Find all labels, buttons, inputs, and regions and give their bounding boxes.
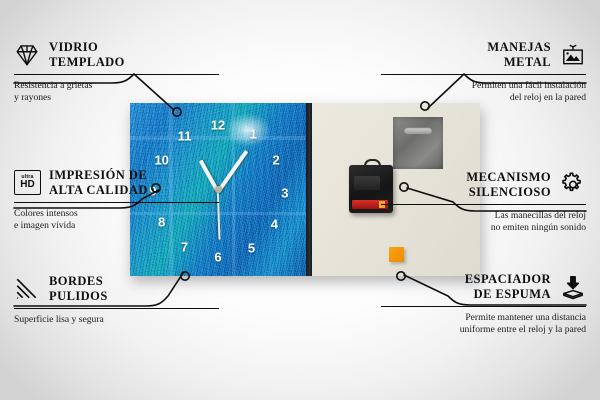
callout-divider (14, 202, 219, 204)
callout-title-line2: METAL (504, 55, 551, 69)
clock-numeral-6: 6 (214, 250, 221, 263)
callout-sub-line1: Permite mantener una distancia (465, 312, 586, 323)
ultra-hd-icon: ultra HD (14, 170, 40, 196)
callout-title-line2: DE ESPUMA (474, 287, 551, 301)
callout-sub-line2: e imagen vívida (14, 220, 75, 231)
callout-divider (14, 308, 219, 310)
callout-divider (381, 74, 586, 76)
foam-spacer (389, 247, 404, 262)
callout-sub-line2: del reloj en la pared (510, 92, 586, 103)
callout-title-line1: MANEJAS (487, 40, 551, 54)
gear-icon (560, 172, 586, 198)
movement-hanging-loop (364, 159, 381, 170)
ultra-hd-icon-bottom: HD (20, 180, 34, 190)
callout-espaciador-espuma: ESPACIADOR DE ESPUMA Permite mantener un… (381, 272, 586, 337)
callout-divider (381, 204, 586, 206)
callout-title-line1: BORDES (49, 274, 103, 288)
callout-title-line1: MECANISMO (466, 170, 551, 184)
callout-sub-line1: Permiten una fácil instalación (472, 80, 586, 91)
clock-numeral-11: 11 (178, 129, 192, 142)
movement-dial (354, 176, 380, 190)
callout-sub-line2: y rayones (14, 92, 51, 103)
callout-vidrio-templado: VIDRIO TEMPLADO Resistencia a grietas y … (14, 40, 219, 105)
callout-divider (14, 74, 219, 76)
callout-title-line2: TEMPLADO (49, 55, 125, 69)
callout-sub-line1: Resistencia a grietas (14, 80, 92, 91)
callout-title-line2: ALTA CALIDAD (49, 183, 148, 197)
clock-numeral-1: 1 (250, 128, 257, 141)
callout-bordes-pulidos: BORDES PULIDOS Superficie lisa y segura (14, 274, 219, 326)
clock-numeral-10: 10 (154, 154, 168, 167)
callout-sub-line1: Superficie lisa y segura (14, 314, 104, 325)
callout-sub-line2: uniforme entre el reloj y la pared (460, 324, 586, 335)
callout-title-line1: IMPRESIÓN DE (49, 168, 147, 182)
polished-edge-icon (14, 276, 40, 302)
arrow-down-pad-icon (560, 274, 586, 300)
clock-numeral-12: 12 (211, 119, 225, 132)
callout-title-line1: VIDRIO (49, 40, 98, 54)
clock-numeral-4: 4 (271, 218, 278, 231)
clock-numeral-2: 2 (272, 154, 279, 167)
diamond-icon (14, 42, 40, 68)
clock-numeral-3: 3 (281, 186, 288, 199)
picture-frame-hanger-icon (560, 42, 586, 68)
clock-numeral-7: 7 (181, 240, 188, 253)
callout-manejas-metal: MANEJAS METAL Permiten una fácil instala… (381, 40, 586, 105)
infographic-stage: 12 1 2 3 4 5 6 7 8 9 10 11 (0, 0, 600, 400)
hanger-keyhole-slot (404, 127, 432, 134)
callout-sub-line1: Las manecillas del reloj (495, 210, 586, 221)
callout-impresion-alta-calidad: ultra HD IMPRESIÓN DE ALTA CALIDAD Color… (14, 168, 219, 233)
callout-title-line1: ESPACIADOR (465, 272, 551, 286)
callout-divider (381, 306, 586, 308)
callout-sub-line2: no emiten ningún sonido (491, 222, 586, 233)
callout-sub-line1: Colores intensos (14, 208, 78, 219)
metal-hanger-plate (393, 117, 443, 169)
clock-face-highlight (225, 113, 271, 147)
clock-numeral-5: 5 (248, 242, 255, 255)
callout-title-line2: SILENCIOSO (469, 185, 551, 199)
callout-mecanismo-silencioso: MECANISMO SILENCIOSO Las manecillas del … (381, 170, 586, 235)
callout-title-line2: PULIDOS (49, 289, 108, 303)
